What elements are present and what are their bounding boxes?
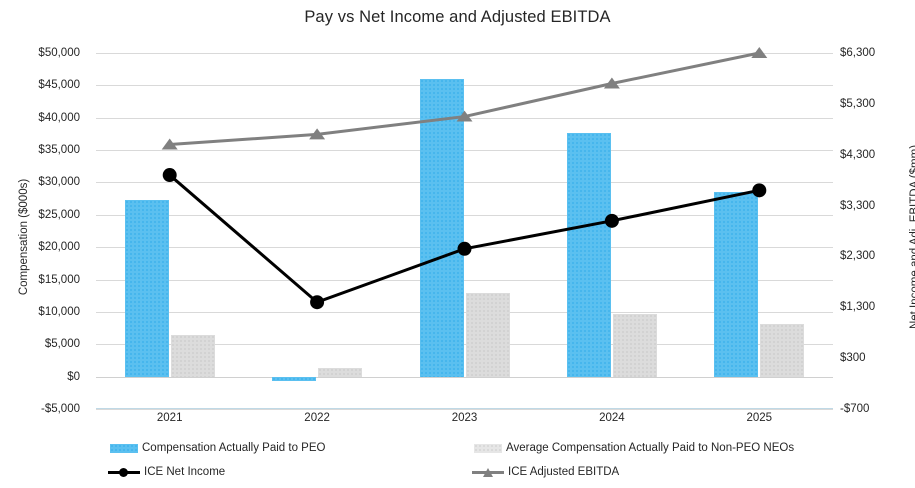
right-axis-tick: $2,300: [840, 250, 875, 262]
left-axis-tick: $10,000: [38, 306, 80, 318]
marker-net-income-2021[interactable]: [163, 168, 177, 182]
legend-label-peo: Compensation Actually Paid to PEO: [142, 442, 325, 454]
legend-item-peo[interactable]: Compensation Actually Paid to PEO: [110, 442, 325, 454]
line-ebitda: [170, 53, 760, 145]
right-axis-tick: $5,300: [840, 98, 875, 110]
chart-container: Pay vs Net Income and Adjusted EBITDA $5…: [0, 0, 915, 488]
x-axis-tick-labels: 20212022202320242025: [96, 412, 833, 432]
marker-ebitda-2025[interactable]: [751, 47, 767, 58]
left-axis-tick: $30,000: [38, 176, 80, 188]
right-axis-title: Net Income and Adj. EBITDA ($mm): [909, 122, 915, 352]
right-axis-tick: $300: [840, 352, 866, 364]
left-axis-tick: $5,000: [45, 338, 80, 350]
gridline: [96, 409, 833, 410]
x-axis-tick: 2023: [452, 412, 478, 424]
x-axis-tick: 2025: [747, 412, 773, 424]
x-axis-tick: 2021: [157, 412, 183, 424]
right-axis-tick: $4,300: [840, 149, 875, 161]
right-axis-tick: $1,300: [840, 301, 875, 313]
legend-item-ebitda[interactable]: ICE Adjusted EBITDA: [472, 466, 619, 478]
chart-title: Pay vs Net Income and Adjusted EBITDA: [0, 8, 915, 27]
left-axis-tick: $40,000: [38, 112, 80, 124]
left-axis-tick: $50,000: [38, 47, 80, 59]
chart-legend: Compensation Actually Paid to PEO Averag…: [96, 440, 836, 488]
ebitda-line-swatch-icon: [472, 466, 504, 478]
peo-bar-swatch-icon: [110, 444, 138, 453]
marker-net-income-2025[interactable]: [752, 183, 766, 197]
legend-label-net-income: ICE Net Income: [144, 466, 225, 478]
left-axis-tick: $15,000: [38, 274, 80, 286]
left-axis-tick: $25,000: [38, 209, 80, 221]
legend-item-neo[interactable]: Average Compensation Actually Paid to No…: [474, 442, 794, 454]
neo-bar-swatch-icon: [474, 444, 502, 453]
left-axis-title: Compensation ($000s): [18, 137, 30, 337]
marker-net-income-2022[interactable]: [310, 295, 324, 309]
legend-label-neo: Average Compensation Actually Paid to No…: [506, 442, 794, 454]
net-income-line-swatch-icon: [108, 466, 140, 478]
left-axis-tick: $0: [67, 371, 80, 383]
x-axis-tick: 2022: [304, 412, 330, 424]
marker-net-income-2024[interactable]: [605, 214, 619, 228]
left-axis-tick: $35,000: [38, 144, 80, 156]
line-series-group: [96, 53, 833, 409]
legend-item-net-income[interactable]: ICE Net Income: [108, 466, 225, 478]
x-axis-line: [96, 408, 833, 409]
x-axis-tick: 2024: [599, 412, 625, 424]
plot-area: [96, 53, 833, 409]
right-axis-tick: -$700: [840, 403, 869, 415]
left-axis-tick: -$5,000: [41, 403, 80, 415]
left-axis-tick-labels: $50,000$45,000$40,000$35,000$30,000$25,0…: [0, 53, 88, 409]
legend-label-ebitda: ICE Adjusted EBITDA: [508, 466, 619, 478]
line-net-income: [170, 175, 760, 302]
right-axis-tick: $6,300: [840, 47, 875, 59]
left-axis-tick: $45,000: [38, 79, 80, 91]
right-axis-tick-labels: $6,300$5,300$4,300$3,300$2,300$1,300$300…: [840, 53, 900, 409]
marker-net-income-2023[interactable]: [458, 242, 472, 256]
right-axis-tick: $3,300: [840, 200, 875, 212]
left-axis-tick: $20,000: [38, 241, 80, 253]
